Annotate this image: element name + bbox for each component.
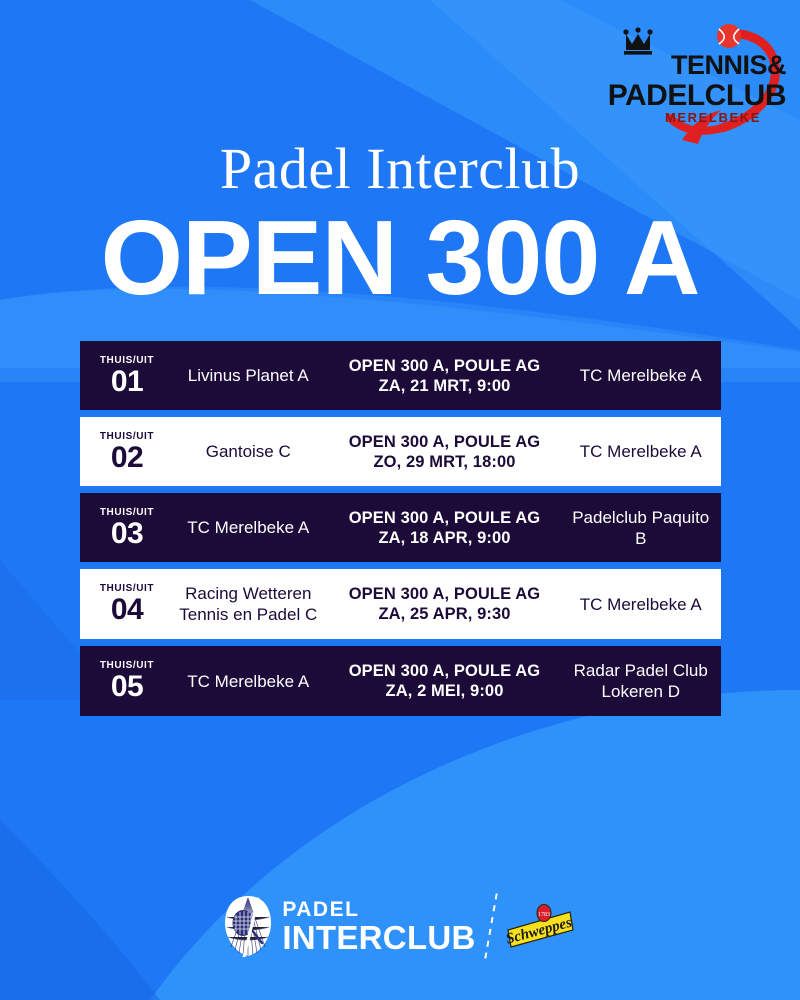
away-team: Padelclub Paquito B: [561, 493, 722, 562]
padel-interclub-wordmark: PADEL INTERCLUB: [282, 899, 475, 954]
match-info: OPEN 300 A, POULE AG ZA, 25 APR, 9:30: [329, 569, 561, 639]
match-datetime: ZA, 21 MRT, 9:00: [379, 376, 511, 396]
away-team: TC Merelbeke A: [561, 417, 722, 486]
table-row[interactable]: THUIS/UIT 01 Livinus Planet A OPEN 300 A…: [80, 341, 721, 410]
table-row[interactable]: THUIS/UIT 04 Racing Wetteren Tennis en P…: [80, 569, 721, 639]
svg-text:1783: 1783: [538, 912, 550, 918]
match-info: OPEN 300 A, POULE AG ZA, 2 MEI, 9:00: [329, 646, 561, 716]
padel-racquet-icon: [224, 895, 272, 957]
match-datetime: ZO, 29 MRT, 18:00: [374, 452, 516, 472]
match-competition: OPEN 300 A, POULE AG: [349, 356, 541, 376]
match-number-cell: THUIS/UIT 01: [80, 341, 168, 410]
schedule-table: THUIS/UIT 01 Livinus Planet A OPEN 300 A…: [80, 341, 721, 716]
svg-text:PADELCLUB: PADELCLUB: [608, 79, 786, 112]
match-info: OPEN 300 A, POULE AG ZO, 29 MRT, 18:00: [329, 417, 561, 486]
match-competition: OPEN 300 A, POULE AG: [349, 661, 541, 681]
match-number: 04: [111, 594, 143, 625]
svg-text:MERELBEKE: MERELBEKE: [665, 110, 761, 125]
match-number-cell: THUIS/UIT 02: [80, 417, 168, 486]
match-datetime: ZA, 25 APR, 9:30: [378, 604, 510, 624]
poster-title: OPEN 300 A: [0, 206, 800, 310]
match-number-cell: THUIS/UIT 03: [80, 493, 168, 562]
match-competition: OPEN 300 A, POULE AG: [349, 584, 541, 604]
match-datetime: ZA, 2 MEI, 9:00: [386, 681, 504, 701]
match-info: OPEN 300 A, POULE AG ZA, 21 MRT, 9:00: [329, 341, 561, 410]
match-number-cell: THUIS/UIT 05: [80, 646, 168, 716]
poster-canvas: TENNIS& PADELCLUB MERELBEKE Padel Interc…: [0, 0, 800, 1000]
home-away-label: THUIS/UIT: [100, 507, 154, 518]
match-info: OPEN 300 A, POULE AG ZA, 18 APR, 9:00: [329, 493, 561, 562]
poster-subtitle: Padel Interclub: [0, 138, 800, 200]
match-number: 02: [111, 442, 143, 473]
svg-text:TENNIS&: TENNIS&: [671, 50, 786, 80]
table-row[interactable]: THUIS/UIT 02 Gantoise C OPEN 300 A, POUL…: [80, 417, 721, 486]
table-row[interactable]: THUIS/UIT 05 TC Merelbeke A OPEN 300 A, …: [80, 646, 721, 716]
match-number-cell: THUIS/UIT 04: [80, 569, 168, 639]
padel-interclub-logo: PADEL INTERCLUB: [224, 895, 475, 957]
home-away-label: THUIS/UIT: [100, 431, 154, 442]
match-number: 03: [111, 518, 143, 549]
home-team: Livinus Planet A: [168, 341, 329, 410]
dashed-separator: [484, 893, 497, 958]
padel-interclub-word-top: PADEL: [282, 899, 475, 921]
padel-interclub-word-bottom: INTERCLUB: [282, 921, 475, 954]
match-competition: OPEN 300 A, POULE AG: [349, 432, 541, 452]
away-team: Radar Padel Club Lokeren D: [561, 646, 722, 716]
away-team: TC Merelbeke A: [561, 569, 722, 639]
match-number: 01: [111, 366, 143, 397]
schweppes-logo: 1783 Schweppes: [504, 900, 576, 952]
club-logo: TENNIS& PADELCLUB MERELBEKE: [590, 22, 790, 147]
home-team: Racing Wetteren Tennis en Padel C: [168, 569, 329, 639]
match-datetime: ZA, 18 APR, 9:00: [378, 528, 510, 548]
poster-headings: Padel Interclub OPEN 300 A: [0, 138, 800, 310]
footer-logos: PADEL INTERCLUB 1783 Schweppes: [0, 893, 800, 959]
away-team: TC Merelbeke A: [561, 341, 722, 410]
table-row[interactable]: THUIS/UIT 03 TC Merelbeke A OPEN 300 A, …: [80, 493, 721, 562]
match-competition: OPEN 300 A, POULE AG: [349, 508, 541, 528]
home-team: TC Merelbeke A: [168, 493, 329, 562]
home-away-label: THUIS/UIT: [100, 355, 154, 366]
match-number: 05: [111, 671, 143, 702]
home-team: TC Merelbeke A: [168, 646, 329, 716]
home-team: Gantoise C: [168, 417, 329, 486]
